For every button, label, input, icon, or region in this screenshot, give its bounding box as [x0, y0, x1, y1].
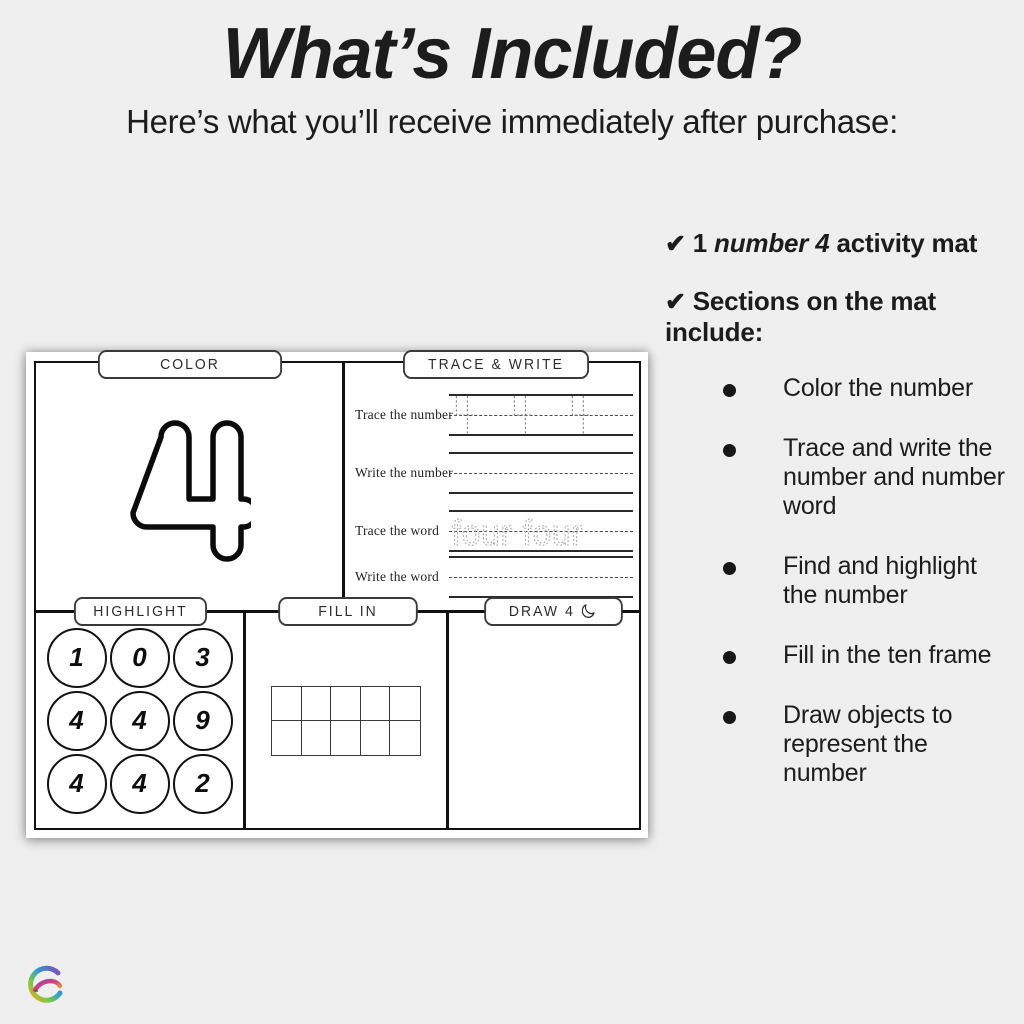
draw-section[interactable]	[449, 613, 639, 828]
guide-line-middle-dashed	[449, 577, 633, 578]
section-label-color: COLOR	[98, 350, 282, 379]
trace-row-write-number: Write the number	[345, 445, 635, 501]
list-item-label: Draw objects to represent the number	[783, 701, 952, 787]
trace-row-label: Trace the word	[355, 523, 439, 539]
writing-guide-lines[interactable]	[449, 556, 633, 598]
included-item-1-emphasis: number 4	[714, 228, 829, 258]
list-item: Color the number	[665, 374, 1015, 403]
header: What’s Included? Here’s what you’ll rece…	[0, 18, 1024, 144]
list-item: Draw objects to represent the number	[665, 701, 1015, 788]
highlight-number-circle[interactable]: 3	[173, 628, 233, 688]
fill-in-section	[246, 613, 446, 828]
trace-number-glyphs	[449, 394, 633, 436]
svg-text:four four: four four	[452, 514, 584, 552]
bubble-number-4-outline	[127, 415, 251, 567]
writing-guide-lines[interactable]	[449, 394, 633, 436]
highlight-number-circle[interactable]: 9	[173, 691, 233, 751]
sections-bullet-list: Color the number Trace and write the num…	[665, 374, 1015, 788]
pencil-swirl-logo	[18, 957, 74, 1013]
ten-frame-cell[interactable]	[390, 687, 420, 721]
page-title: What’s Included?	[0, 18, 1024, 91]
trace-row-trace-number: Trace the number	[345, 387, 635, 443]
ten-frame-cell[interactable]	[272, 721, 302, 755]
ten-frame-cell[interactable]	[331, 687, 361, 721]
check-mark-icon: ✔	[665, 288, 686, 316]
trace-row-label: Write the number	[355, 465, 453, 481]
highlight-number-circle[interactable]: 4	[47, 691, 107, 751]
included-item-2-label: Sections on the mat include:	[665, 286, 936, 348]
guide-line-top	[449, 452, 633, 454]
ten-frame-cell[interactable]	[302, 687, 332, 721]
section-label-fill-in: FILL IN	[278, 597, 418, 626]
highlight-number-circle[interactable]: 4	[110, 754, 170, 814]
ten-frame-cell[interactable]	[361, 687, 391, 721]
included-item-1-prefix: 1	[693, 228, 714, 258]
included-item-1-suffix: activity mat	[829, 228, 977, 258]
bullet-dot-icon	[723, 711, 736, 724]
ten-frame-grid[interactable]	[271, 686, 421, 756]
trace-row-label: Write the word	[355, 569, 439, 585]
activity-mat-border: COLOR TRACE & WRITE Trace the number	[34, 361, 641, 830]
highlight-number-circle[interactable]: 4	[110, 691, 170, 751]
color-section	[36, 363, 342, 610]
ten-frame-cell[interactable]	[390, 721, 420, 755]
list-item-label: Color the number	[783, 374, 973, 402]
crescent-moon-icon	[582, 602, 598, 619]
trace-word-glyphs: four four	[449, 510, 633, 552]
guide-line-bottom	[449, 492, 633, 494]
section-label-draw-text: DRAW 4	[509, 603, 575, 620]
ten-frame-cell[interactable]	[272, 687, 302, 721]
included-list-panel: ✔1 number 4 activity mat ✔Sections on th…	[665, 228, 1015, 819]
ten-frame-cell[interactable]	[331, 721, 361, 755]
guide-line-middle-dashed	[449, 473, 633, 474]
list-item-label: Find and highlight the number	[783, 552, 977, 609]
section-label-draw: DRAW 4	[484, 597, 623, 626]
highlight-number-circle[interactable]: 1	[47, 628, 107, 688]
section-label-highlight: HIGHLIGHT	[74, 597, 207, 626]
bullet-dot-icon	[723, 384, 736, 397]
included-item-sections: ✔Sections on the mat include:	[665, 286, 1015, 348]
page-subtitle: Here’s what you’ll receive immediately a…	[0, 101, 1024, 143]
highlight-section: 1 0 3 4 4 9 4 4 2	[36, 613, 243, 828]
ten-frame-cell[interactable]	[302, 721, 332, 755]
writing-guide-lines[interactable]	[449, 452, 633, 494]
included-item-activity-mat: ✔1 number 4 activity mat	[665, 228, 1015, 260]
highlight-number-circle[interactable]: 4	[47, 754, 107, 814]
check-mark-icon: ✔	[665, 230, 686, 258]
section-label-trace-write: TRACE & WRITE	[403, 350, 589, 379]
list-item: Fill in the ten frame	[665, 641, 1015, 670]
highlight-number-grid: 1 0 3 4 4 9 4 4 2	[47, 628, 233, 814]
activity-mat-preview: COLOR TRACE & WRITE Trace the number	[26, 352, 648, 838]
writing-guide-lines[interactable]: four four	[449, 510, 633, 552]
highlight-number-circle[interactable]: 0	[110, 628, 170, 688]
list-item-label: Trace and write the number and number wo…	[783, 434, 1005, 520]
bullet-dot-icon	[723, 444, 736, 457]
guide-line-top	[449, 556, 633, 558]
highlight-number-circle[interactable]: 2	[173, 754, 233, 814]
list-item: Trace and write the number and number wo…	[665, 434, 1015, 521]
bullet-dot-icon	[723, 651, 736, 664]
poster-canvas: What’s Included? Here’s what you’ll rece…	[0, 0, 1024, 1024]
list-item-label: Fill in the ten frame	[783, 641, 991, 669]
bullet-dot-icon	[723, 562, 736, 575]
ten-frame-cell[interactable]	[361, 721, 391, 755]
list-item: Find and highlight the number	[665, 552, 1015, 610]
trace-write-section: Trace the number	[345, 363, 639, 610]
trace-row-label: Trace the number	[355, 407, 453, 423]
